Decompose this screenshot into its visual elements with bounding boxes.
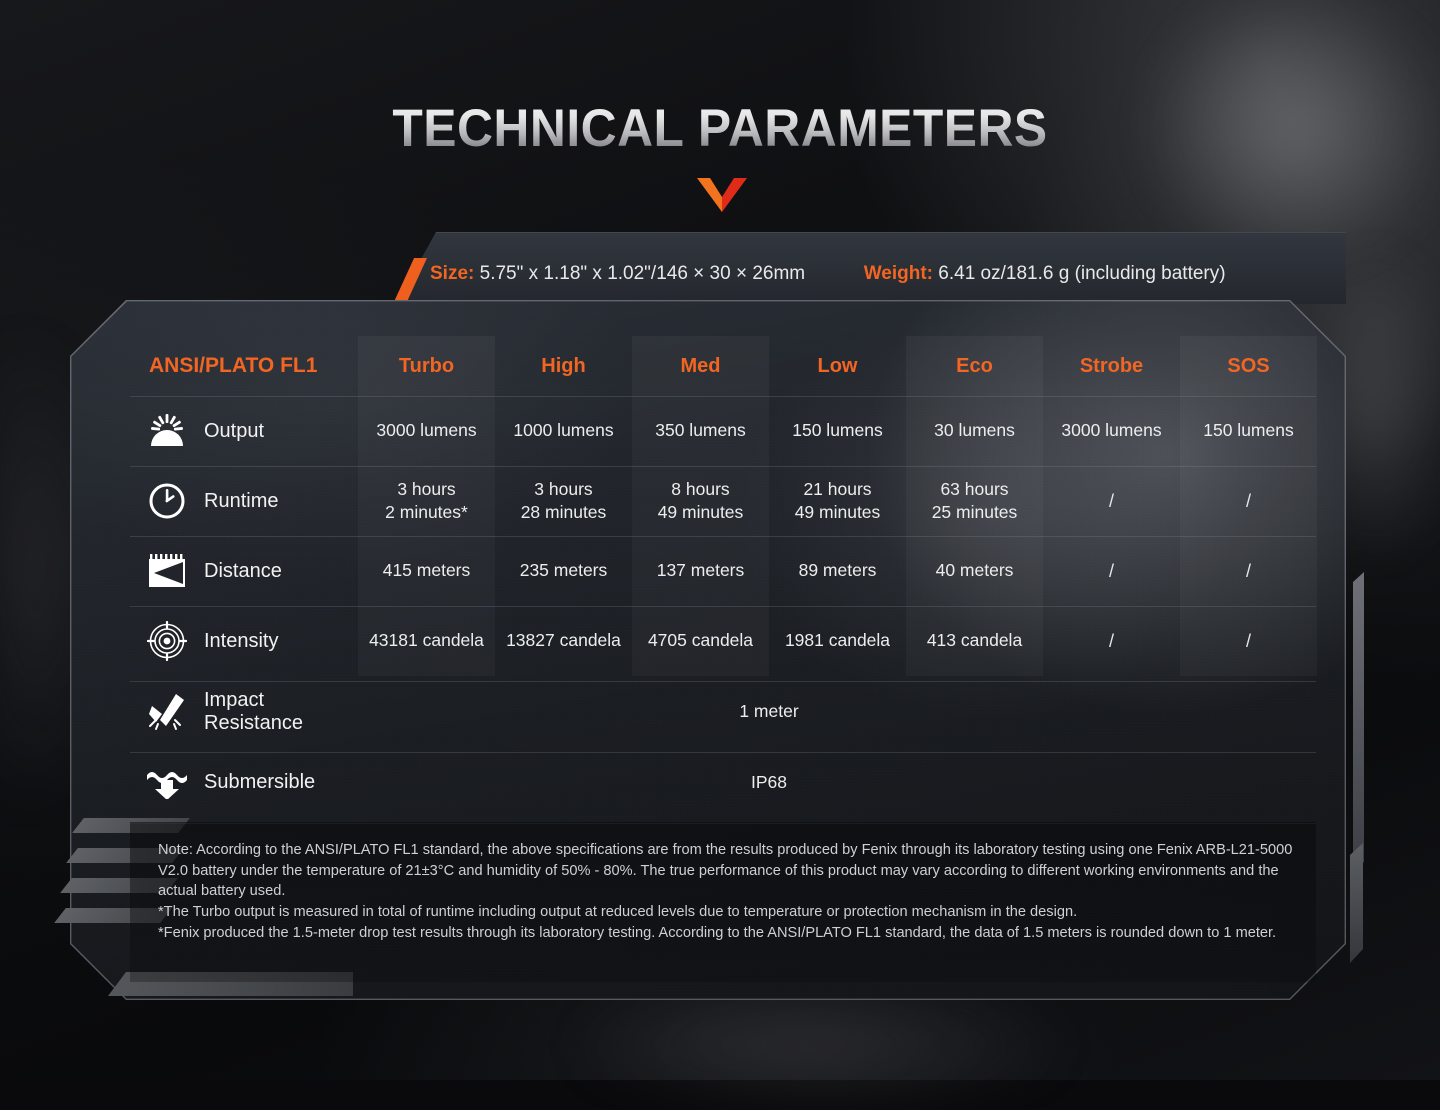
cell-runtime-turbo-line1: 3 hours	[385, 478, 468, 501]
spec-header-text: Size: 5.75" x 1.18" x 1.02"/146 × 30 × 2…	[430, 263, 1330, 285]
column-header-strobe: Strobe	[1043, 336, 1180, 396]
cell-runtime-turbo: 3 hours 2 minutes*	[358, 466, 495, 536]
column-header-low: Low	[769, 336, 906, 396]
cell-distance-high: 235 meters	[495, 536, 632, 606]
table-header-row: ANSI/PLATO FL1 Turbo High Med Low Eco St…	[130, 336, 1316, 396]
cell-output-med: 350 lumens	[632, 396, 769, 466]
beam-distance-icon	[144, 550, 190, 592]
cell-runtime-high-line2: 28 minutes	[521, 501, 607, 524]
cell-intensity-sos: /	[1180, 606, 1317, 676]
size-label: Size:	[430, 263, 474, 284]
table-row-submersible: Submersible IP68	[130, 747, 1316, 818]
cell-runtime-med-line2: 49 minutes	[658, 501, 744, 524]
row-label-submersible: Submersible	[204, 771, 315, 794]
cell-submersible-value: IP68	[358, 747, 1316, 818]
cell-distance-low: 89 meters	[769, 536, 906, 606]
weight-label: Weight:	[864, 263, 933, 284]
cell-intensity-high: 13827 candela	[495, 606, 632, 676]
specifications-table: ANSI/PLATO FL1 Turbo High Med Low Eco St…	[130, 336, 1316, 818]
water-wave-icon	[144, 762, 190, 804]
table-row-impact-resistance: Impact Resistance 1 meter	[130, 676, 1316, 747]
cell-runtime-eco-line2: 25 minutes	[932, 501, 1018, 524]
table-row-intensity: Intensity 43181 candela 13827 candela 47…	[130, 606, 1316, 676]
cell-runtime-high: 3 hours 28 minutes	[495, 466, 632, 536]
size-value: 5.75" x 1.18" x 1.02"/146 × 30 × 26mm	[480, 263, 806, 284]
footnote-block: Note: According to the ANSI/PLATO FL1 st…	[130, 822, 1316, 982]
cell-impact-resistance-value: 1 meter	[358, 676, 1316, 747]
row-label-runtime: Runtime	[204, 490, 278, 513]
right-edge-accent-top	[1353, 572, 1364, 872]
footnote-line-1: Note: According to the ANSI/PLATO FL1 st…	[158, 840, 1310, 902]
cell-runtime-turbo-line2: 2 minutes*	[385, 501, 468, 524]
column-header-turbo: Turbo	[358, 336, 495, 396]
page-title: TECHNICAL PARAMETERS	[43, 98, 1397, 159]
cell-intensity-strobe: /	[1043, 606, 1180, 676]
column-header-sos: SOS	[1180, 336, 1317, 396]
column-header-med: Med	[632, 336, 769, 396]
row-label-output: Output	[204, 420, 264, 443]
cell-runtime-sos: /	[1180, 466, 1317, 536]
cell-intensity-eco: 413 candela	[906, 606, 1043, 676]
cell-runtime-eco-line1: 63 hours	[932, 478, 1018, 501]
cell-output-high: 1000 lumens	[495, 396, 632, 466]
impact-drop-icon	[144, 691, 190, 733]
cell-distance-sos: /	[1180, 536, 1317, 606]
column-header-high: High	[495, 336, 632, 396]
row-label-distance: Distance	[204, 560, 282, 583]
row-label-impact-resistance: Impact Resistance	[204, 689, 358, 735]
cell-output-low: 150 lumens	[769, 396, 906, 466]
footnote-line-3: *Fenix produced the 1.5-meter drop test …	[158, 923, 1310, 944]
column-header-eco: Eco	[906, 336, 1043, 396]
corner-header-label: ANSI/PLATO FL1	[130, 336, 358, 396]
cell-output-eco: 30 lumens	[906, 396, 1043, 466]
right-edge-accent-bottom	[1350, 843, 1363, 963]
cell-distance-eco: 40 meters	[906, 536, 1043, 606]
target-intensity-icon	[144, 620, 190, 662]
cell-distance-strobe: /	[1043, 536, 1180, 606]
row-label-intensity: Intensity	[204, 630, 278, 653]
cell-runtime-strobe: /	[1043, 466, 1180, 536]
cell-runtime-low: 21 hours 49 minutes	[769, 466, 906, 536]
cell-distance-med: 137 meters	[632, 536, 769, 606]
cell-output-turbo: 3000 lumens	[358, 396, 495, 466]
footnote-line-2: *The Turbo output is measured in total o…	[158, 902, 1310, 923]
light-output-icon	[144, 410, 190, 452]
cell-output-sos: 150 lumens	[1180, 396, 1317, 466]
table-row-output: Output 3000 lumens 1000 lumens 350 lumen…	[130, 396, 1316, 466]
cell-output-strobe: 3000 lumens	[1043, 396, 1180, 466]
weight-value: 6.41 oz/181.6 g (including battery)	[938, 263, 1225, 284]
cell-runtime-med: 8 hours 49 minutes	[632, 466, 769, 536]
cell-distance-turbo: 415 meters	[358, 536, 495, 606]
chevron-down-icon	[697, 178, 747, 212]
table-row-distance: Distance 415 meters 235 meters 137 meter…	[130, 536, 1316, 606]
cell-intensity-turbo: 43181 candela	[358, 606, 495, 676]
cell-intensity-low: 1981 candela	[769, 606, 906, 676]
cell-runtime-low-line2: 49 minutes	[795, 501, 881, 524]
cell-runtime-med-line1: 8 hours	[658, 478, 744, 501]
cell-intensity-med: 4705 candela	[632, 606, 769, 676]
cell-runtime-high-line1: 3 hours	[521, 478, 607, 501]
cell-runtime-eco: 63 hours 25 minutes	[906, 466, 1043, 536]
clock-icon	[144, 480, 190, 522]
cell-runtime-low-line1: 21 hours	[795, 478, 881, 501]
table-row-runtime: Runtime 3 hours 2 minutes* 3 hours 28 mi…	[130, 466, 1316, 536]
